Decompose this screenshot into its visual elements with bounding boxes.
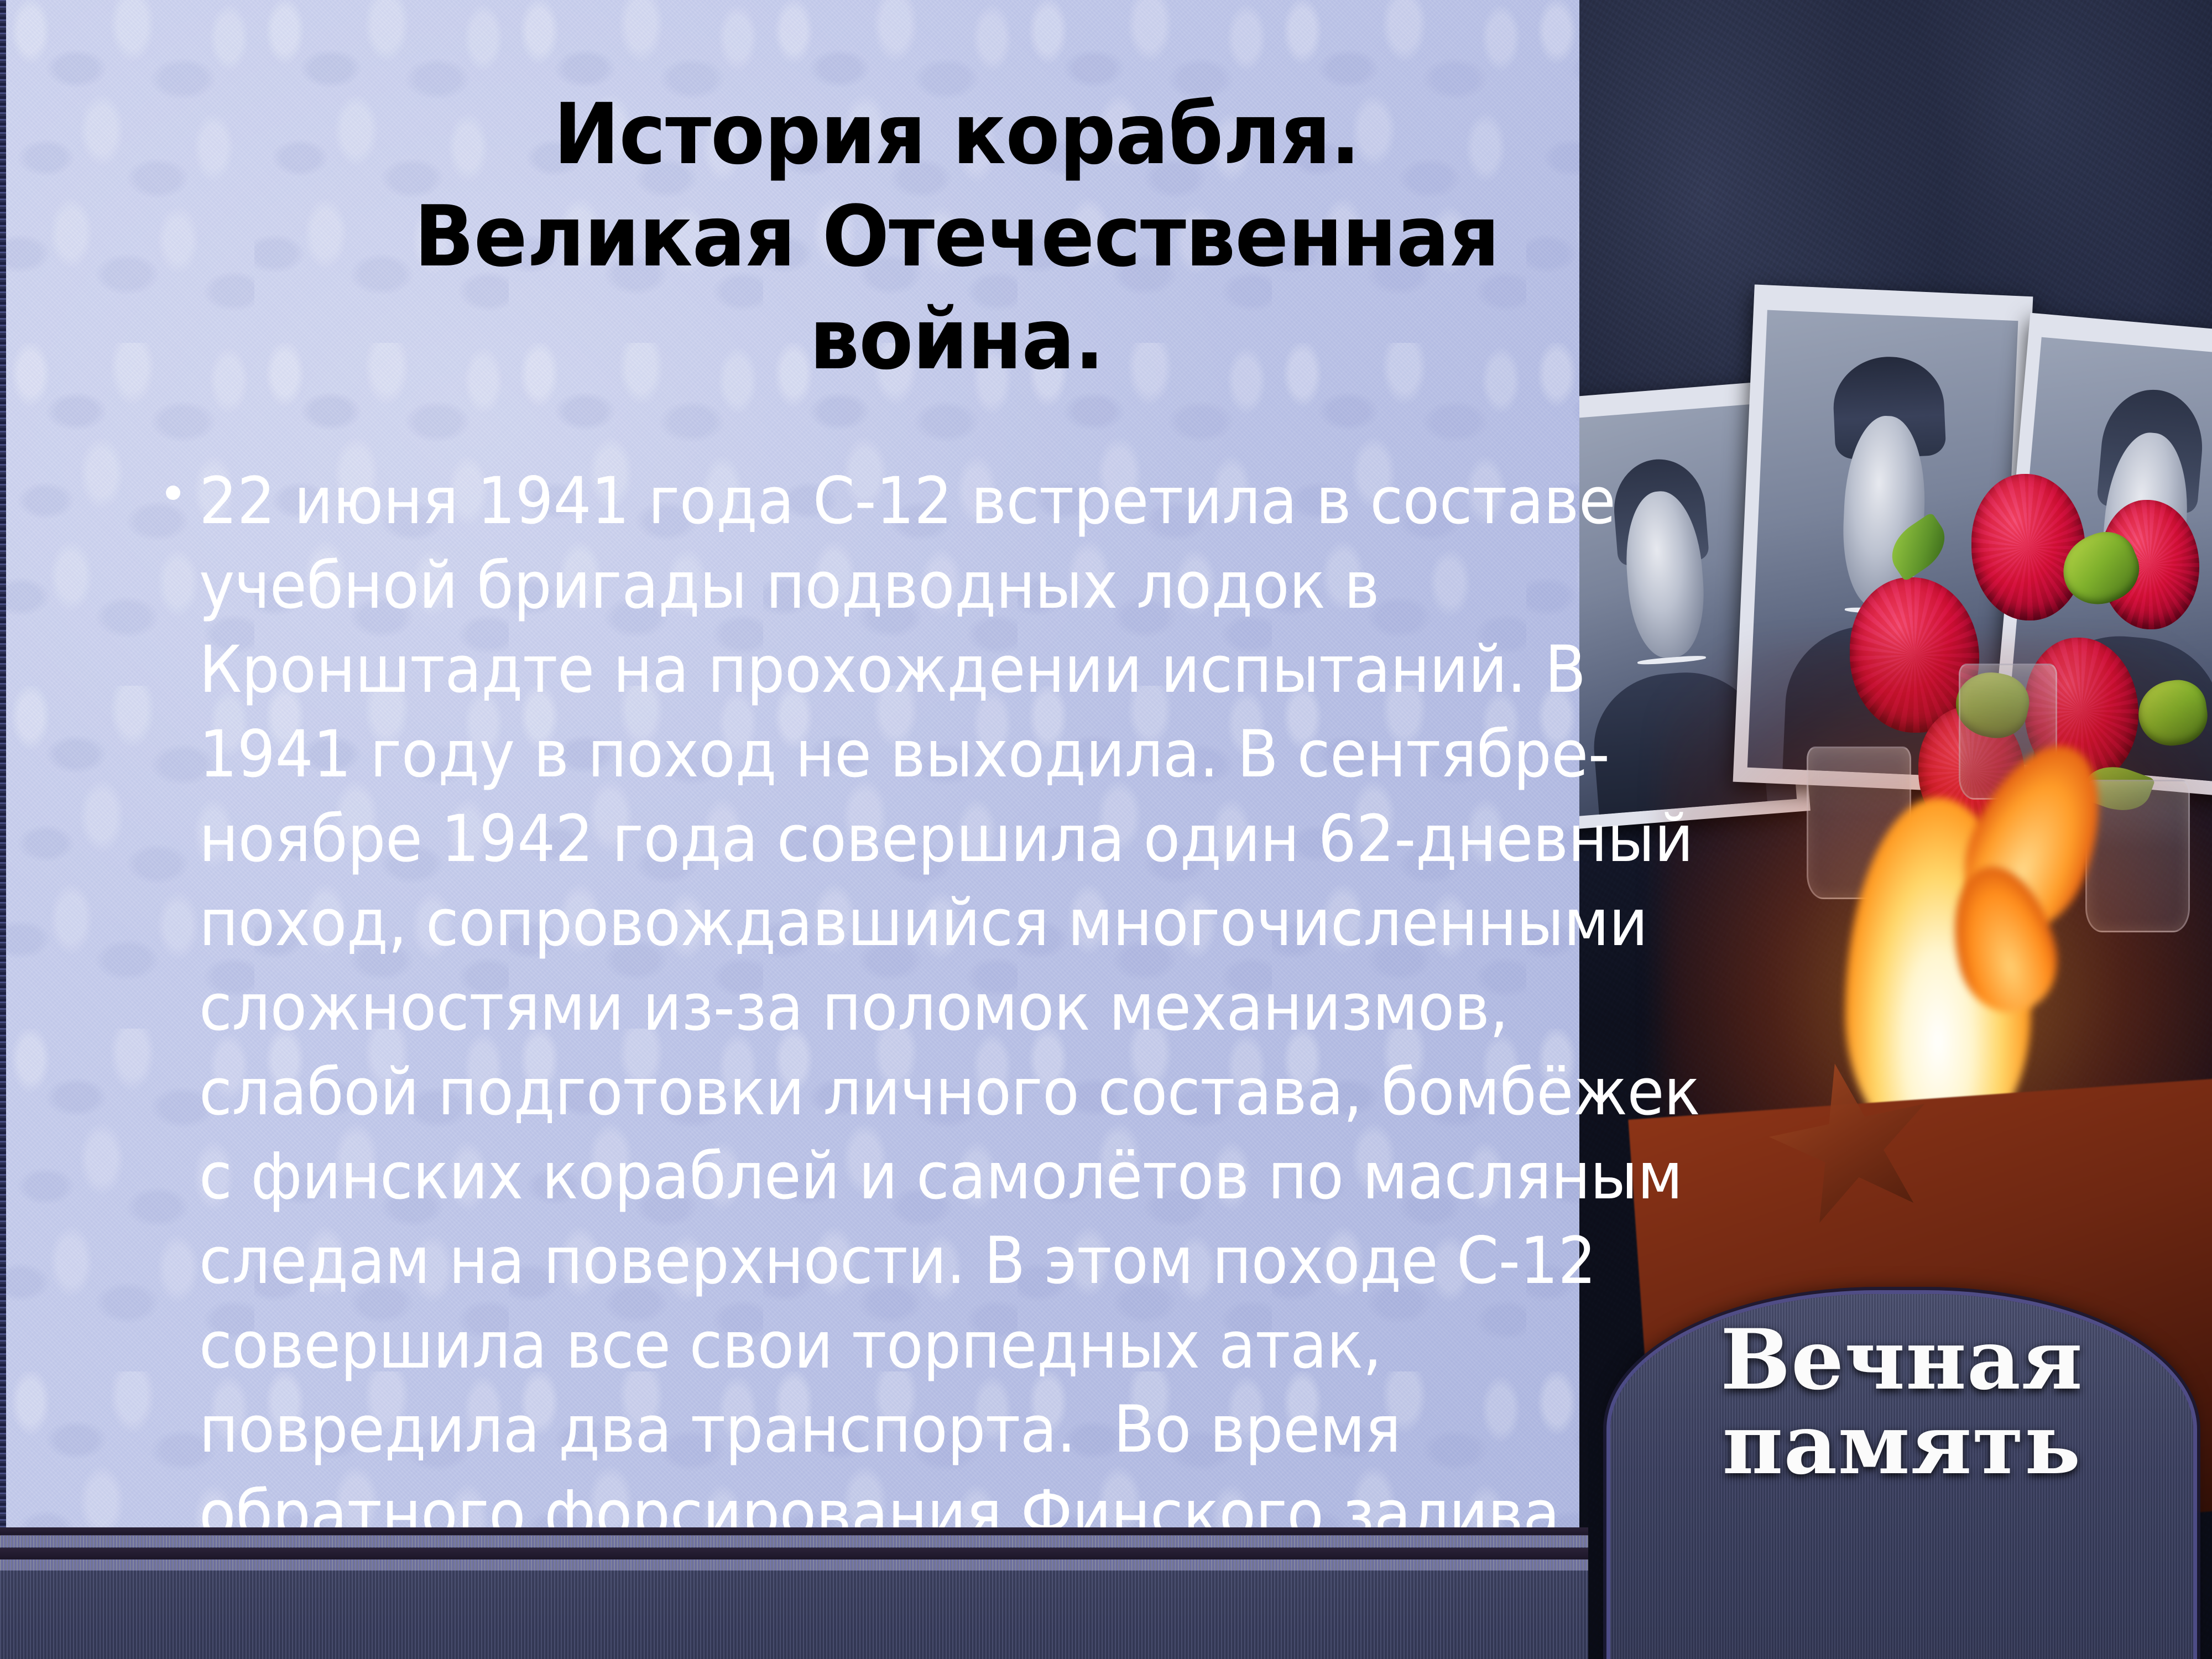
body-content: 22 июня 1941 года С-12 встретила в соста…: [166, 459, 1836, 1659]
carnation-flower: [1971, 474, 2085, 620]
bullet-point-icon: [166, 486, 180, 500]
bottom-decorative-band: [0, 1527, 1588, 1659]
bullet-list-item: 22 июня 1941 года С-12 встретила в соста…: [166, 459, 1836, 1659]
presentation-slide: Вечная память История корабля. Великая О…: [0, 0, 2212, 1659]
slide-title: История корабля. Великая Отечественная в…: [390, 83, 1523, 390]
band-highlight-rule: [0, 1559, 1588, 1571]
band-shadow: [0, 1548, 1588, 1559]
bullet-paragraph: 22 июня 1941 года С-12 встретила в соста…: [199, 459, 1721, 1659]
flower-leaf: [1881, 512, 1955, 582]
band-highlight-rule: [0, 1535, 1588, 1547]
left-edge-rule: [0, 0, 6, 1530]
band-shadow: [0, 1527, 1588, 1536]
